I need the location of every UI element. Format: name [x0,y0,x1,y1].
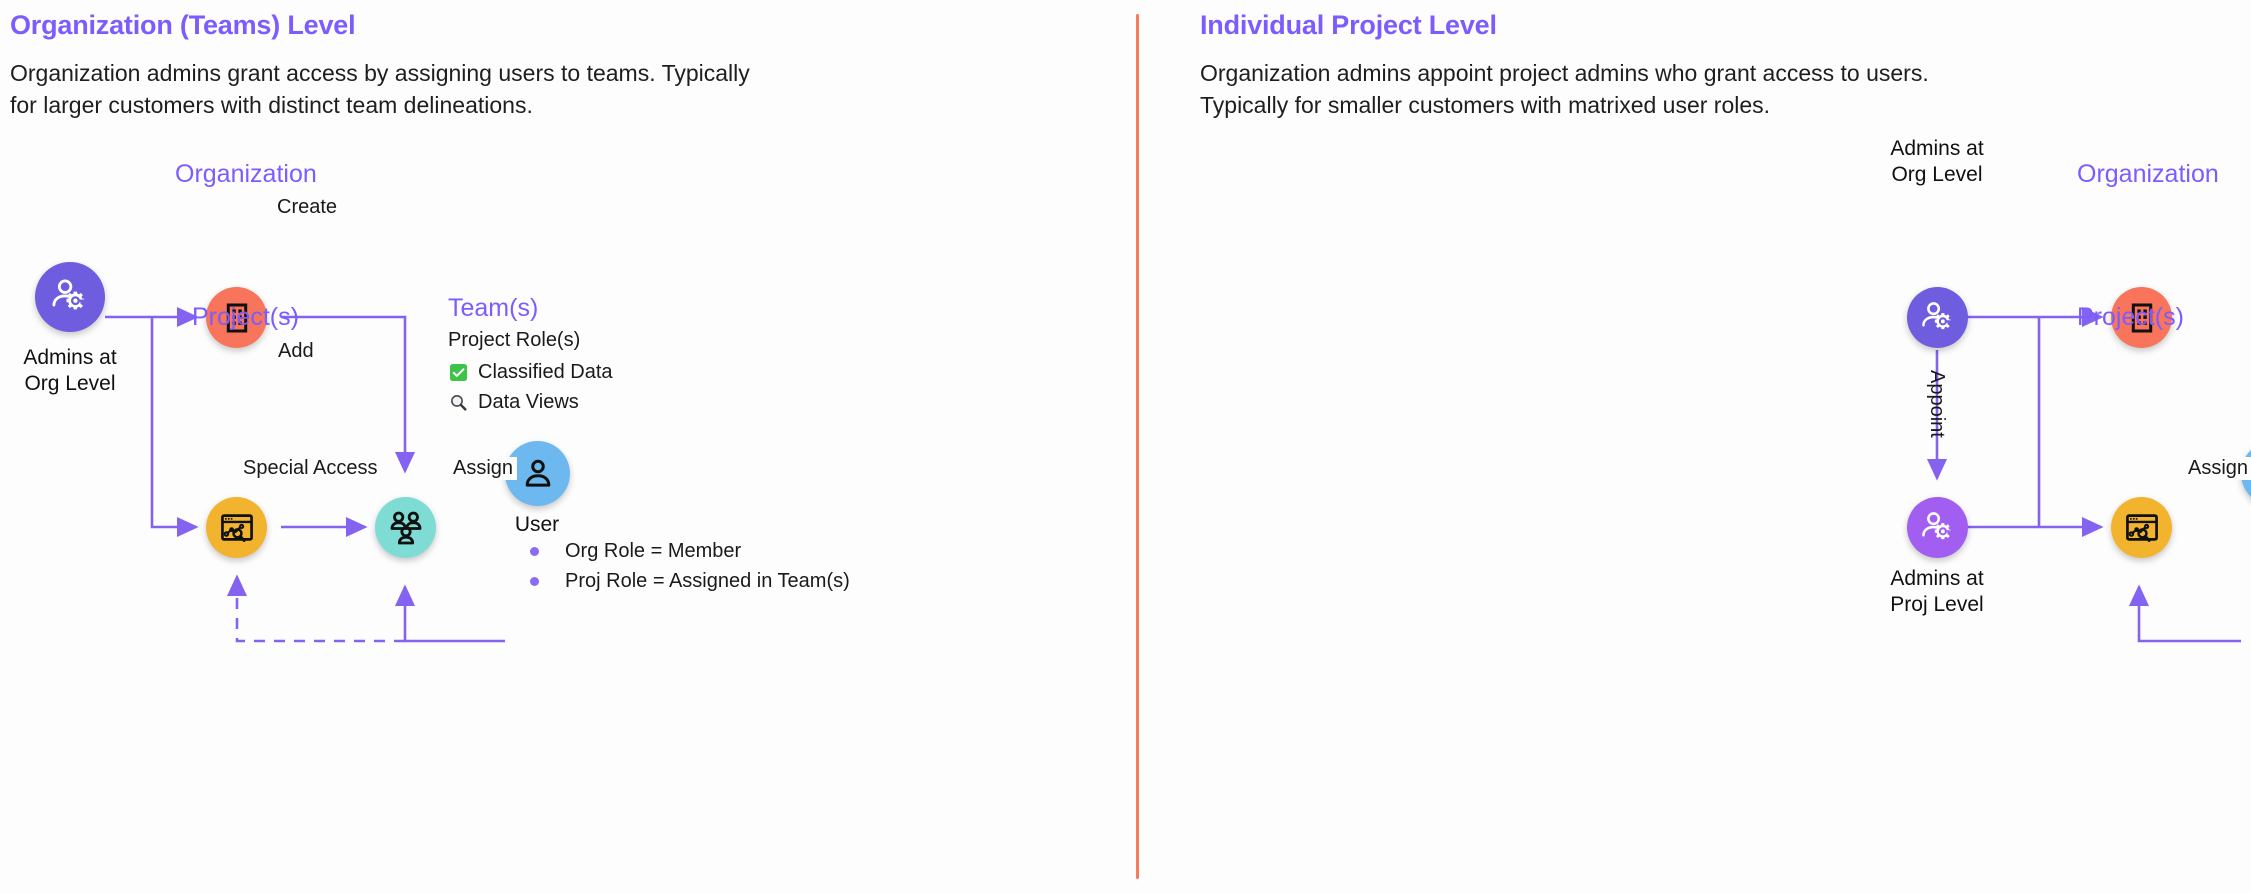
category-label-organization: Organization [175,160,317,189]
category-label-projects-right: Project(s) [2077,303,2184,332]
panel-description-right-line1: Organization admins appoint project admi… [1200,60,1929,86]
admin-user-gear-key-icon [49,276,91,318]
panel-description-left-line1: Organization admins grant access by assi… [10,60,750,86]
bullet-item: Org Role = Member [530,540,850,563]
bullet-dot-icon [530,577,539,586]
connector-layer-left [0,0,1136,893]
role-item-data-views: Data Views [448,391,613,414]
panel-description-left: Organization admins grant access by assi… [10,58,1100,121]
category-label-teams: Team(s) [448,294,538,323]
bullet-label: Org Role = Member [565,540,741,563]
edge-label-appoint: Appoint [1925,366,1948,442]
node-projects-right[interactable] [2111,497,2172,558]
category-label-organization-right: Organization [2077,160,2219,189]
role-label-classified-data: Classified Data [478,361,613,384]
bullet-dot-icon [530,547,539,556]
panel-individual-project-level: Individual Project Level Organization ad… [1136,0,2251,893]
magnifier-icon [448,392,469,413]
single-person-icon [520,456,556,492]
node-label-admins-at-org-level-right: Admins at Org Level [1871,136,2003,188]
edge-label-assign-right: Assign [2184,457,2251,480]
panel-title-left: Organization (Teams) Level [10,10,355,41]
wire-user-to-teams [405,587,505,641]
edge-label-special-access: Special Access [239,457,382,480]
three-people-icon [386,508,426,548]
panel-organization-teams-level: Organization (Teams) Level Organization … [0,0,1136,893]
project-dashboard-icon [2123,509,2161,547]
wire-user-special-access-to-projects [237,577,405,641]
roles-box-teams: Project Role(s) Classified Data Data Vie… [448,329,613,421]
admin-user-gear-key-icon [1919,299,1957,337]
node-admins-at-proj-level[interactable] [1907,497,1968,558]
green-check-box-icon [448,362,469,383]
bullet-label: Proj Role = Assigned in Team(s) [565,570,850,593]
wire-admins-to-projects [152,317,196,527]
edge-label-assign: Assign [449,457,517,480]
project-dashboard-icon [218,509,256,547]
role-label-data-views: Data Views [478,391,579,414]
node-projects[interactable] [206,497,267,558]
panel-description-right: Organization admins appoint project admi… [1200,58,2240,121]
user-bullets-left: Org Role = Member Proj Role = Assigned i… [530,540,850,600]
node-teams[interactable] [375,497,436,558]
role-item-classified-data: Classified Data [448,361,613,384]
admin-user-gear-key-icon [1919,509,1957,547]
node-label-user: User [472,512,602,538]
panel-description-left-line2: for larger customers with distinct team … [10,92,533,118]
category-label-projects: Project(s) [192,303,299,332]
roles-title-teams: Project Role(s) [448,329,613,352]
panel-description-right-line2: Typically for smaller customers with mat… [1200,92,1770,118]
bullet-item: Proj Role = Assigned in Team(s) [530,570,850,593]
panel-title-right: Individual Project Level [1200,10,1497,41]
node-label-admins-at-org-level: Admins at Org Level [0,345,140,397]
wire-user-to-projects [2139,587,2241,641]
node-admins-at-org-level[interactable] [35,262,105,332]
edge-label-create: Create [273,196,341,219]
edge-label-add: Add [274,340,318,363]
connector-layer-right [1136,0,2251,893]
node-label-user-right: User [2208,512,2251,538]
node-label-admins-at-proj-level: Admins at Proj Level [1871,566,2003,618]
node-admins-at-org-level-right[interactable] [1907,287,1968,348]
